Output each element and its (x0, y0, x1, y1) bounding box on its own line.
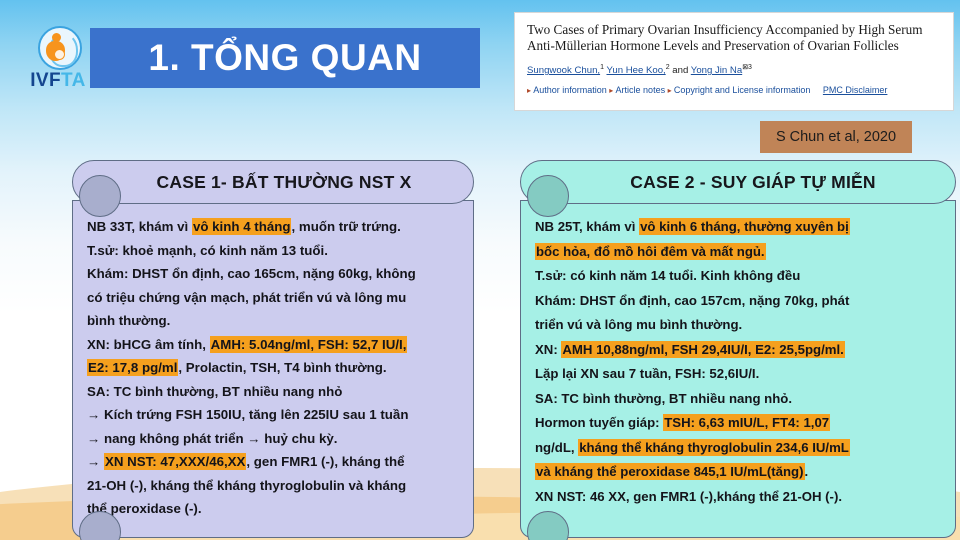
highlighted-text: bốc hỏa, đổ mồ hôi đêm và mất ngủ. (535, 243, 766, 260)
case-2-header: CASE 2 - SUY GIÁP TỰ MIỄN (520, 160, 956, 204)
case-text-line: → XN NST: 47,XXX/46,XX, gen FMR1 (-), kh… (87, 450, 461, 474)
highlighted-text: và kháng thể peroxidase 845,1 IU/mL(tăng… (535, 463, 805, 480)
case-text-line: bốc hỏa, đổ mồ hôi đêm và mất ngủ. (535, 240, 943, 265)
case-2-card: CASE 2 - SUY GIÁP TỰ MIỄN NB 25T, khám v… (520, 160, 956, 538)
highlighted-text: TSH: 6,63 mIU/L, FT4: 1,07 (663, 414, 830, 431)
case-text-line: Lặp lại XN sau 7 tuần, FSH: 52,6IU/I. (535, 362, 943, 387)
baby-figure-shape (54, 49, 65, 60)
citation-label: S Chun et al, 2020 (776, 129, 896, 145)
case-1-header: CASE 1- BẤT THƯỜNG NST X (72, 160, 474, 204)
plain-text: → nang không phát triển → huỷ chu kỳ. (87, 431, 337, 446)
case-text-line: Hormon tuyến giáp: TSH: 6,63 mIU/L, FT4:… (535, 411, 943, 436)
plain-text: XN NST: 46 XX, gen FMR1 (-),kháng thể 21… (535, 489, 842, 504)
plain-text: có triệu chứng vận mạch, phát triển vú v… (87, 290, 406, 305)
plain-text: . (805, 464, 809, 479)
highlighted-text: vô kinh 4 tháng (192, 218, 292, 235)
case-2-footer-knob (527, 511, 569, 540)
plain-text: XN: bHCG âm tính, (87, 337, 210, 352)
case-text-line: XN NST: 46 XX, gen FMR1 (-),kháng thể 21… (535, 485, 943, 510)
logo-wordmark: IVFTA (22, 71, 94, 91)
plain-text: bình thường. (87, 313, 170, 328)
case-1-card: CASE 1- BẤT THƯỜNG NST X NB 33T, khám vì… (72, 160, 474, 538)
highlighted-text: kháng thể kháng thyroglobulin 234,6 IU/m… (578, 439, 850, 456)
case-text-line: Khám: DHST ổn định, cao 157cm, nặng 70kg… (535, 289, 943, 314)
highlighted-text: E2: 17,8 pg/ml (87, 359, 178, 376)
paper-author-link[interactable]: Sungwook Chun, (527, 65, 600, 76)
case-1-body: NB 33T, khám vì vô kinh 4 tháng, muốn tr… (72, 200, 474, 538)
case-text-line: SA: TC bình thường, BT nhiều nang nhỏ (87, 380, 461, 404)
paper-title: Two Cases of Primary Ovarian Insufficien… (527, 22, 941, 54)
slide-title-bar: 1. TỔNG QUAN (90, 28, 480, 88)
paper-author-link[interactable]: Yong Jin Na (691, 65, 742, 76)
plain-text: , Prolactin, TSH, T4 bình thường. (178, 360, 386, 375)
case-text-line: và kháng thể peroxidase 845,1 IU/mL(tăng… (535, 460, 943, 485)
paper-screenshot: Two Cases of Primary Ovarian Insufficien… (514, 12, 954, 111)
plain-text: triển vú và lông mu bình thường. (535, 317, 742, 332)
highlighted-text: AMH 10,88ng/ml, FSH 29,4IU/I, E2: 25,5pg… (561, 341, 844, 358)
logo-wordmark-primary: IVF (30, 70, 61, 91)
pmc-disclaimer-link[interactable]: PMC Disclaimer (823, 85, 888, 95)
page-title: 1. TỔNG QUAN (148, 37, 421, 79)
plain-text: NB 33T, khám vì (87, 219, 192, 234)
plain-text: XN: (535, 342, 561, 357)
case-text-line: bình thường. (87, 309, 461, 333)
paper-author-affiliation: 1 (600, 64, 604, 71)
case-1-title: CASE 1- BẤT THƯỜNG NST X (73, 172, 473, 193)
plain-text: , gen FMR1 (-), kháng thể (246, 454, 404, 469)
paper-author-affiliation: 2 (666, 64, 670, 71)
plain-text: Khám: DHST ổn định, cao 165cm, nặng 60kg… (87, 266, 416, 281)
case-text-line: T.sử: khoẻ mạnh, có kinh năm 13 tuổi. (87, 239, 461, 263)
case-text-line: Khám: DHST ổn định, cao 165cm, nặng 60kg… (87, 262, 461, 286)
plain-text: SA: TC bình thường, BT nhiều nang nhỏ. (535, 391, 792, 406)
paper-meta-links: ▸ Author information ▸ Article notes ▸ C… (527, 85, 941, 95)
plain-text: → Kích trứng FSH 150IU, tăng lên 225IU s… (87, 407, 408, 422)
case-2-title: CASE 2 - SUY GIÁP TỰ MIỄN (521, 172, 955, 193)
case-text-line: XN: bHCG âm tính, AMH: 5.04ng/ml, FSH: 5… (87, 333, 461, 357)
case-text-line: SA: TC bình thường, BT nhiều nang nhỏ. (535, 387, 943, 412)
case-1-text-block: NB 33T, khám vì vô kinh 4 tháng, muốn tr… (87, 215, 461, 521)
case-text-line: → Kích trứng FSH 150IU, tăng lên 225IU s… (87, 403, 461, 427)
case-2-text-block: NB 25T, khám vì vô kinh 6 tháng, thường … (535, 215, 943, 509)
paper-authors: Sungwook Chun,1 Yun Hee Koo,2 and Yong J… (527, 63, 941, 76)
paper-author-link: and (672, 65, 688, 76)
highlighted-text: XN NST: 47,XXX/46,XX (104, 453, 246, 470)
plain-text: 21-OH (-), kháng thể kháng thyroglobulin… (87, 478, 406, 493)
plain-text: Lặp lại XN sau 7 tuần, FSH: 52,6IU/I. (535, 366, 759, 381)
plain-text: , muốn trữ trứng. (291, 219, 400, 234)
paper-author-link[interactable]: Yun Hee Koo, (606, 65, 665, 76)
plain-text: SA: TC bình thường, BT nhiều nang nhỏ (87, 384, 342, 399)
case-text-line: 21-OH (-), kháng thể kháng thyroglobulin… (87, 474, 461, 498)
case-1-header-knob (79, 175, 121, 217)
case-2-body: NB 25T, khám vì vô kinh 6 tháng, thường … (520, 200, 956, 538)
plain-text: ng/dL, (535, 440, 578, 455)
plain-text: T.sử: có kinh năm 14 tuổi. Kinh không đề… (535, 268, 800, 283)
plain-text: Hormon tuyến giáp: (535, 415, 663, 430)
ivfta-logo: IVFTA (22, 26, 94, 90)
case-text-line: T.sử: có kinh năm 14 tuổi. Kinh không đề… (535, 264, 943, 289)
case-2-header-knob (527, 175, 569, 217)
case-text-line: NB 25T, khám vì vô kinh 6 tháng, thường … (535, 215, 943, 240)
slide-canvas: IVFTA 1. TỔNG QUAN Two Cases of Primary … (0, 0, 960, 540)
case-text-line: NB 33T, khám vì vô kinh 4 tháng, muốn tr… (87, 215, 461, 239)
plain-text: NB 25T, khám vì (535, 219, 639, 234)
plain-text: → (87, 454, 104, 469)
paper-author-affiliation: ⊠3 (742, 64, 752, 71)
plain-text: Khám: DHST ổn định, cao 157cm, nặng 70kg… (535, 293, 849, 308)
case-text-line: XN: AMH 10,88ng/ml, FSH 29,4IU/I, E2: 25… (535, 338, 943, 363)
citation-badge: S Chun et al, 2020 (760, 121, 912, 153)
paper-meta-link[interactable]: Author information (533, 85, 609, 95)
case-text-line: có triệu chứng vận mạch, phát triển vú v… (87, 286, 461, 310)
case-text-line: thể peroxidase (-). (87, 497, 461, 521)
case-text-line: triển vú và lông mu bình thường. (535, 313, 943, 338)
mother-head-shape (52, 33, 61, 42)
paper-meta-link[interactable]: Copyright and License information (674, 85, 813, 95)
highlighted-text: AMH: 5.04ng/ml, FSH: 52,7 IU/I, (210, 336, 408, 353)
case-text-line: E2: 17,8 pg/ml, Prolactin, TSH, T4 bình … (87, 356, 461, 380)
case-text-line: → nang không phát triển → huỷ chu kỳ. (87, 427, 461, 451)
highlighted-text: vô kinh 6 tháng, thường xuyên bị (639, 218, 850, 235)
mother-child-globe-icon (34, 26, 82, 70)
case-text-line: ng/dL, kháng thể kháng thyroglobulin 234… (535, 436, 943, 461)
plain-text: T.sử: khoẻ mạnh, có kinh năm 13 tuổi. (87, 243, 328, 258)
logo-wordmark-secondary: TA (61, 70, 86, 91)
paper-meta-link[interactable]: Article notes (616, 85, 668, 95)
